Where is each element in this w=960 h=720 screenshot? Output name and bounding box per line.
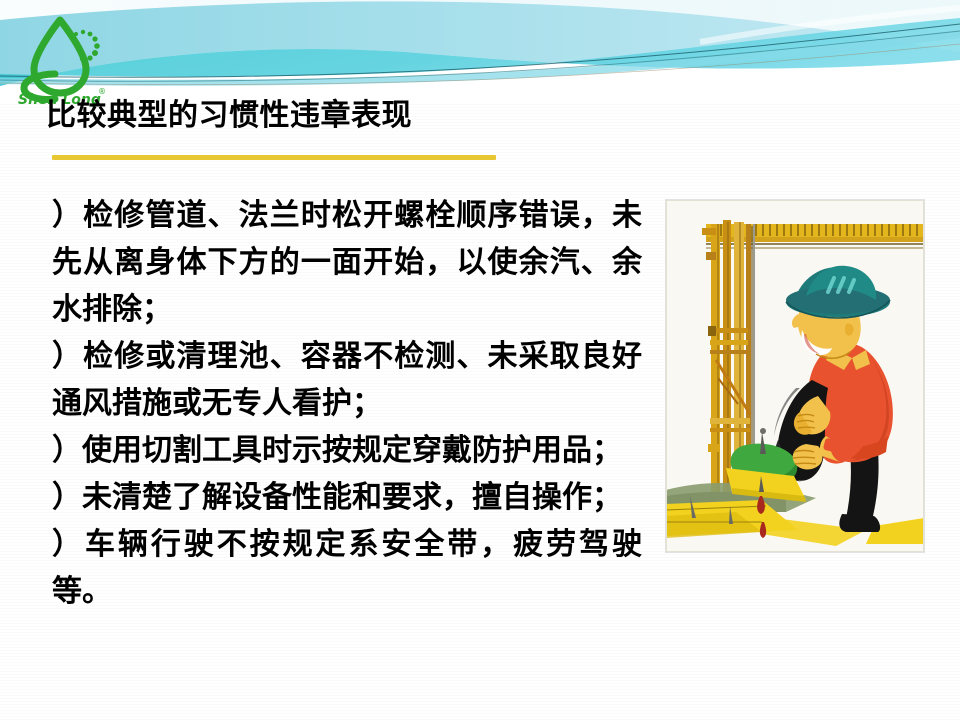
page-title: 比较典型的习惯性违章表现 xyxy=(46,96,412,136)
safety-cartoon-image xyxy=(666,200,924,552)
slide: Shen Long ® 比较典型的习惯性违章表现 ）检修管道、法兰时松开螺栓顺序… xyxy=(0,0,960,720)
droplet-icon: Shen Long ® xyxy=(14,12,118,108)
body-line-5: ）车辆行驶不按规定系安全带，疲劳驾驶等。 xyxy=(52,521,642,615)
body-line-3: ）使用切割工具时示按规定穿戴防护用品； xyxy=(52,427,642,474)
body-line-2: ）检修或清理池、容器不检测、未采取良好通风措施或无专人看护； xyxy=(52,333,642,427)
cartoon-illustration xyxy=(666,200,924,552)
header-banner xyxy=(0,0,960,104)
shen-long-logo: Shen Long ® xyxy=(14,12,118,108)
registered-mark: ® xyxy=(98,87,106,96)
body-text-block: ）检修管道、法兰时松开螺栓顺序错误，未先从离身体下方的一面开始，以使余汽、余水排… xyxy=(52,192,642,615)
header-wave-graphic xyxy=(0,0,960,104)
title-underline-rule xyxy=(52,155,496,160)
body-line-1: ）检修管道、法兰时松开螺栓顺序错误，未先从离身体下方的一面开始，以使余汽、余水排… xyxy=(52,192,642,333)
body-line-4: ）未清楚了解设备性能和要求，擅自操作； xyxy=(52,474,642,521)
